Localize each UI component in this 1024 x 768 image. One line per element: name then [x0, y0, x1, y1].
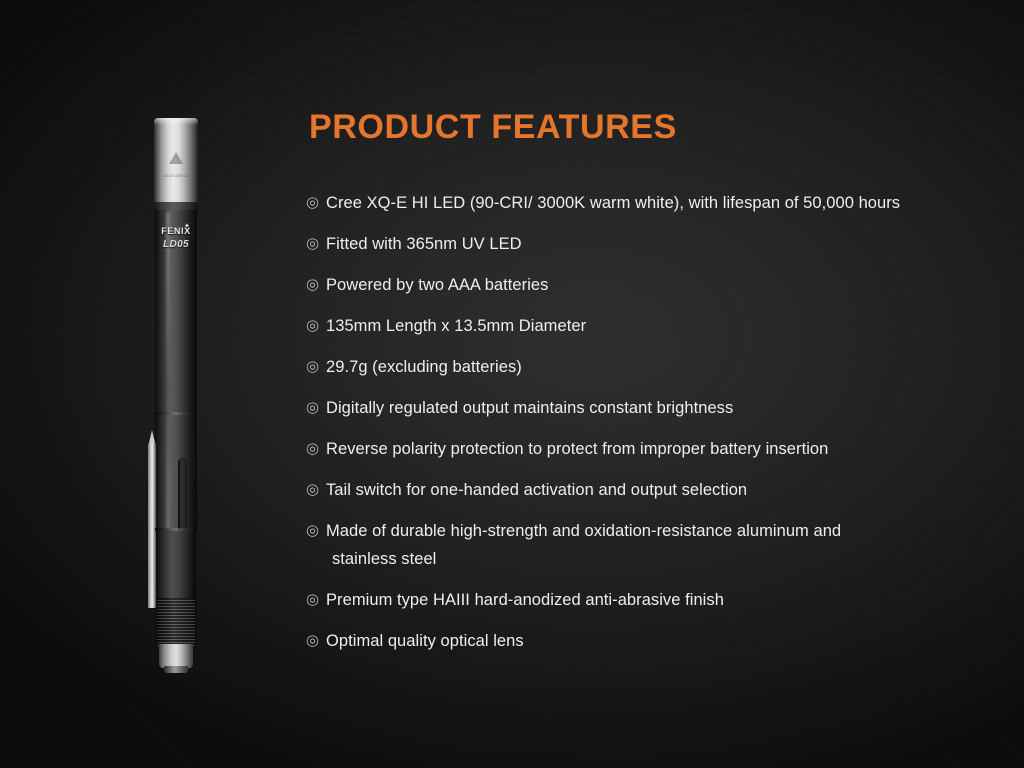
- feature-bullet-icon: ◎: [306, 315, 326, 337]
- pocket-clip: [148, 442, 156, 608]
- page-title: PRODUCT FEATURES: [309, 108, 677, 147]
- feature-bullet-icon: ◎: [306, 589, 326, 611]
- product-features-slide: CAUTION UV ✦ FENIX LD05 PRODUCT FEATURES…: [0, 0, 1024, 768]
- feature-item: ◎Premium type HAIII hard-anodized anti-a…: [306, 589, 966, 611]
- feature-list: ◎Cree XQ-E HI LED (90-CRI/ 3000K warm wh…: [306, 192, 966, 671]
- feature-item: ◎Made of durable high-strength and oxida…: [306, 520, 966, 542]
- feature-text: Cree XQ-E HI LED (90-CRI/ 3000K warm whi…: [326, 192, 900, 214]
- tail-cap-switch: [159, 644, 193, 668]
- feature-text: Reverse polarity protection to protect f…: [326, 438, 828, 460]
- warning-triangle-icon: [169, 152, 183, 164]
- feature-text: stainless steel: [326, 548, 436, 570]
- feature-item: ◎stainless steel: [306, 548, 966, 570]
- body-highlight: [166, 212, 170, 530]
- flashlight-head: CAUTION UV: [154, 118, 198, 204]
- model-label: LD05: [155, 239, 197, 250]
- body-ring-lower: [155, 528, 197, 531]
- feature-text: 29.7g (excluding batteries): [326, 356, 522, 378]
- feature-bullet-icon: ◎: [306, 356, 326, 378]
- head-warning-label: CAUTION UV: [155, 173, 197, 178]
- brand-logo: FENIX: [155, 226, 197, 236]
- feature-bullet-icon: ◎: [306, 233, 326, 255]
- feature-bullet-icon: ◎: [306, 274, 326, 296]
- feature-text: Made of durable high-strength and oxidat…: [326, 520, 841, 542]
- feature-item: ◎135mm Length x 13.5mm Diameter: [306, 315, 966, 337]
- feature-item: ◎Optimal quality optical lens: [306, 630, 966, 652]
- feature-text: 135mm Length x 13.5mm Diameter: [326, 315, 586, 337]
- feature-text: Fitted with 365nm UV LED: [326, 233, 522, 255]
- body-ring-upper: [155, 412, 197, 415]
- feature-item: ◎Tail switch for one-handed activation a…: [306, 479, 966, 501]
- feature-text: Tail switch for one-handed activation an…: [326, 479, 747, 501]
- feature-item: ◎Digitally regulated output maintains co…: [306, 397, 966, 419]
- feature-bullet-icon: ◎: [306, 397, 326, 419]
- feature-bullet-icon: ◎: [306, 438, 326, 460]
- feature-text: Optimal quality optical lens: [326, 630, 524, 652]
- flashlight-body: [155, 210, 197, 532]
- feature-bullet-icon: ◎: [306, 192, 326, 214]
- feature-item: ◎Cree XQ-E HI LED (90-CRI/ 3000K warm wh…: [306, 192, 966, 214]
- feature-text: Digitally regulated output maintains con…: [326, 397, 733, 419]
- feature-bullet-icon: ◎: [306, 479, 326, 501]
- feature-item: ◎Powered by two AAA batteries: [306, 274, 966, 296]
- feature-item: ◎Reverse polarity protection to protect …: [306, 438, 966, 460]
- knurled-grip: [157, 598, 195, 646]
- feature-item: ◎29.7g (excluding batteries): [306, 356, 966, 378]
- product-image-fenix-ld05: CAUTION UV ✦ FENIX LD05: [140, 112, 220, 678]
- feature-text: Powered by two AAA batteries: [326, 274, 548, 296]
- feature-bullet-icon: ◎: [306, 630, 326, 652]
- feature-bullet-icon: ◎: [306, 520, 326, 542]
- feature-text: Premium type HAIII hard-anodized anti-ab…: [326, 589, 724, 611]
- feature-item: ◎Fitted with 365nm UV LED: [306, 233, 966, 255]
